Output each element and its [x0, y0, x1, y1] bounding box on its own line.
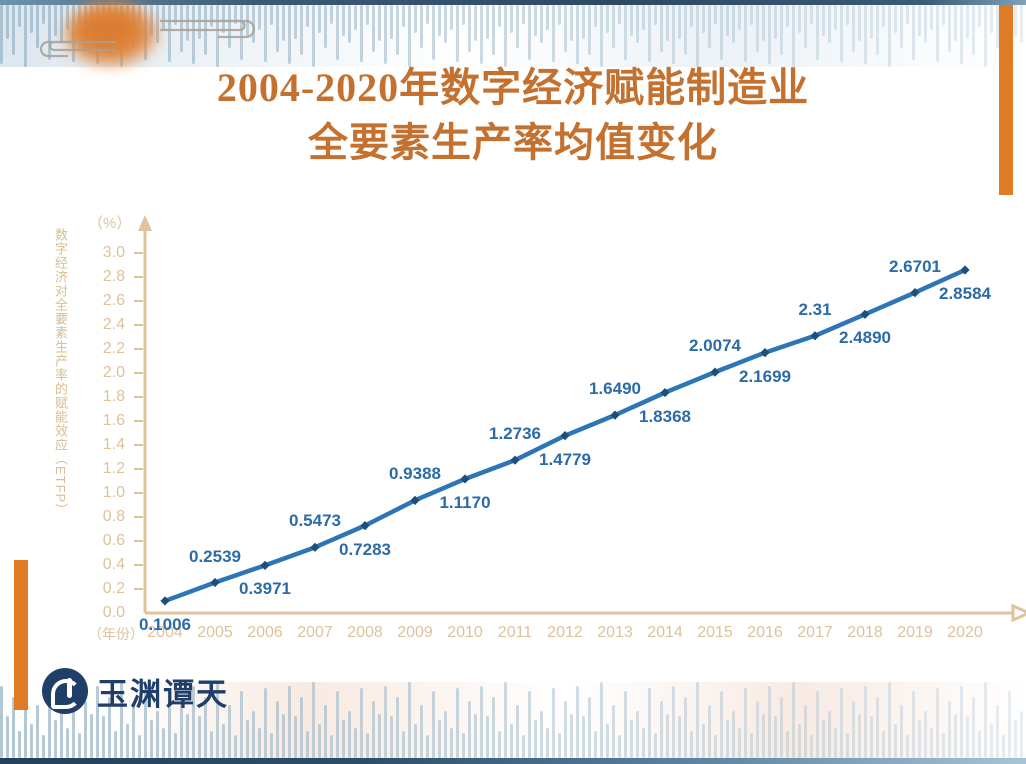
- y-axis-tick: [134, 516, 143, 518]
- x-axis-tick-label: 2015: [687, 624, 743, 642]
- y-axis-tick-label: 2.0: [79, 364, 125, 382]
- y-axis-tick: [134, 540, 143, 542]
- x-axis-tick-label: 2014: [637, 624, 693, 642]
- x-axis-tick-label: 2007: [287, 624, 343, 642]
- data-point-label: 2.31: [798, 300, 831, 320]
- y-axis-tick: [134, 588, 143, 590]
- y-axis-tick-label: 2.8: [79, 268, 125, 286]
- y-axis-tick: [134, 564, 143, 566]
- x-axis-tick-label: 2008: [337, 624, 393, 642]
- slide-canvas: 2004-2020年数字经济赋能制造业 全要素生产率均值变化 数字经济对全要素生…: [0, 0, 1026, 764]
- data-point-label: 1.6490: [589, 379, 641, 399]
- y-axis-tick: [134, 444, 143, 446]
- y-axis-tick-label: 1.4: [79, 436, 125, 454]
- y-axis-tick-label: 1.8: [79, 388, 125, 406]
- x-axis-tick-label: 2005: [187, 624, 243, 642]
- y-axis-tick: [134, 348, 143, 350]
- x-axis-tick-label: 2009: [387, 624, 443, 642]
- y-axis-tick-label: 0.6: [79, 532, 125, 550]
- x-axis-tick-label: 2016: [737, 624, 793, 642]
- data-point-label: 1.2736: [489, 424, 541, 444]
- y-axis-tick-label: 0.0: [79, 604, 125, 622]
- y-axis-arrow: [138, 215, 152, 231]
- yuyuantantian-emblem-icon: [42, 668, 88, 714]
- y-axis-tick-label: 1.0: [79, 484, 125, 502]
- data-point-label: 2.8584: [939, 284, 991, 304]
- y-axis-tick: [134, 468, 143, 470]
- data-point-label: 2.4890: [839, 328, 891, 348]
- data-point-label: 1.1170: [439, 493, 490, 513]
- line-chart: 数字经济对全要素生产率的赋能效应（ETFP） （%） （年份） 3.02.82.…: [0, 0, 1026, 764]
- data-point-label: 0.5473: [289, 511, 341, 531]
- y-axis-tick-label: 3.0: [79, 244, 125, 262]
- y-axis-tick: [134, 252, 143, 254]
- plot-surface: [0, 0, 1026, 764]
- y-axis-tick-label: 2.4: [79, 316, 125, 334]
- y-axis-tick-label: 0.2: [79, 580, 125, 598]
- y-axis-tick-label: 2.2: [79, 340, 125, 358]
- data-point-label: 2.1699: [739, 367, 791, 387]
- data-point-label: 0.2539: [189, 547, 241, 567]
- y-axis-tick: [134, 492, 143, 494]
- x-axis-tick-label: 2020: [937, 624, 993, 642]
- x-axis-tick-label: 2012: [537, 624, 593, 642]
- data-point-label: 0.7283: [339, 540, 391, 560]
- y-axis-tick-label: 2.6: [79, 292, 125, 310]
- brand-logo-text: 玉渊谭天: [97, 669, 229, 714]
- x-axis-tick-label: 2018: [837, 624, 893, 642]
- y-axis-tick: [134, 324, 143, 326]
- data-point-label: 2.6701: [889, 257, 941, 277]
- data-point-label: 0.1006: [139, 615, 191, 635]
- data-point-label: 1.8368: [639, 407, 691, 427]
- y-axis-tick: [134, 420, 143, 422]
- x-axis-tick-label: 2010: [437, 624, 493, 642]
- y-axis-tick-label: 1.2: [79, 460, 125, 478]
- x-axis-tick-label: 2011: [487, 624, 543, 642]
- x-axis-arrow: [1013, 606, 1026, 620]
- y-axis-tick: [134, 300, 143, 302]
- y-axis-tick: [134, 396, 143, 398]
- data-point-label: 1.4779: [539, 450, 591, 470]
- x-axis-tick-label: 2013: [587, 624, 643, 642]
- data-point-label: 2.0074: [689, 336, 741, 356]
- y-axis-tick-label: 0.8: [79, 508, 125, 526]
- brand-logo: 玉渊谭天: [42, 668, 229, 714]
- y-axis-tick-label: 1.6: [79, 412, 125, 430]
- data-point-label: 0.3971: [239, 579, 291, 599]
- y-axis-tick-label: 0.4: [79, 556, 125, 574]
- x-axis-tick-label: 2006: [237, 624, 293, 642]
- y-axis-tick: [134, 372, 143, 374]
- x-axis-tick-label: 2019: [887, 624, 943, 642]
- y-axis-tick: [134, 276, 143, 278]
- x-axis-tick-label: 2017: [787, 624, 843, 642]
- data-point-label: 0.9388: [389, 464, 441, 484]
